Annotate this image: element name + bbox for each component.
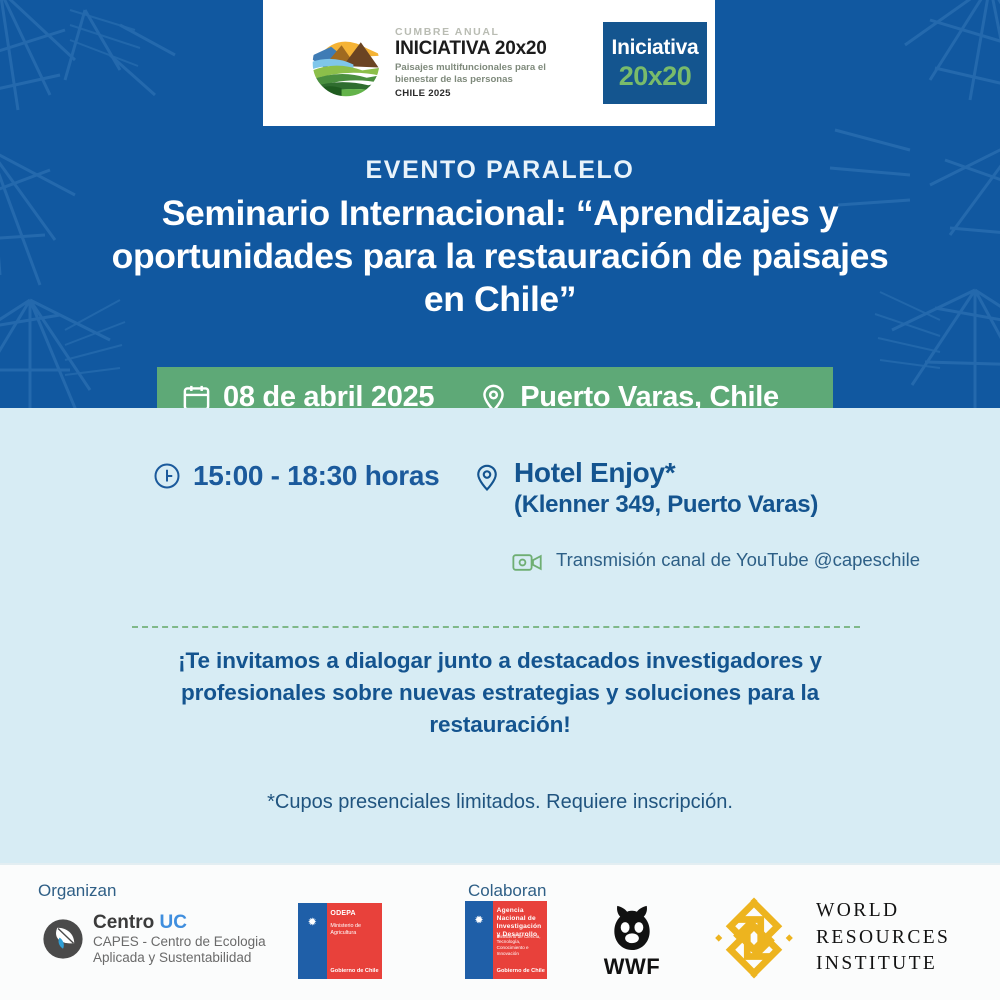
invitation-text: ¡Te invitamos a dialogar junto a destaca… (110, 645, 890, 741)
venue-block: Hotel Enjoy* (Klenner 349, Puerto Varas) (472, 456, 818, 519)
logo-wwf: WWF (596, 900, 668, 980)
capes-line-2: CAPES - Centro de Ecologia (93, 934, 266, 950)
chile-coat-of-arms: ✹ (465, 901, 493, 979)
time-row: 15:00 - 18:30 horas (152, 460, 439, 492)
event-poster: CUMBRE ANUAL INICIATIVA 20x20 Paisajes m… (0, 0, 1000, 1000)
wri-line-2: RESOURCES (816, 925, 950, 952)
anid-government: Gobierno de Chile (497, 968, 545, 974)
clock-icon (152, 461, 182, 491)
odepa-ministry: Ministerio de Agricultura (330, 923, 378, 937)
wwf-wordmark: WWF (604, 954, 660, 980)
cumbre-anual-logo: CUMBRE ANUAL INICIATIVA 20x20 Paisajes m… (309, 26, 559, 100)
odepa-name: ODEPA (330, 910, 355, 918)
cumbre-year: CHILE 2025 (395, 89, 559, 99)
footer-divider (0, 863, 1000, 865)
event-time: 15:00 - 18:30 horas (193, 460, 439, 492)
cumbre-kicker: CUMBRE ANUAL (395, 27, 559, 38)
video-camera-icon (512, 551, 543, 574)
cumbre-subtitle: Paisajes multifuncionales para el bienes… (395, 62, 559, 86)
event-kicker: EVENTO PARALELO (0, 156, 1000, 185)
badge-line-1: Iniciativa (612, 37, 699, 58)
landscape-circle-icon (309, 26, 383, 100)
wri-line-1: WORLD (816, 898, 950, 925)
capes-leaf-icon (42, 918, 84, 960)
odepa-government: Gobierno de Chile (330, 968, 378, 974)
dashed-divider (132, 626, 860, 628)
venue-name: Hotel Enjoy* (514, 456, 818, 490)
centro-uc-name: Centro UC (93, 912, 266, 934)
iniciativa-20x20-badge: Iniciativa 20x20 (603, 22, 707, 104)
registration-note: *Cupos presenciales limitados. Requiere … (0, 791, 1000, 814)
wri-line-3: INSTITUTE (816, 951, 950, 978)
cumbre-name: INICIATIVA 20x20 (395, 39, 559, 60)
stream-block: Transmisión canal de YouTube @capeschile (512, 548, 920, 574)
panda-icon (602, 900, 662, 953)
header-logo-panel: CUMBRE ANUAL INICIATIVA 20x20 Paisajes m… (263, 0, 715, 126)
capes-line-3: Aplicada y Sustentabilidad (93, 950, 266, 966)
badge-line-2: 20x20 (619, 63, 692, 90)
organizers-label: Organizan (38, 881, 116, 901)
wri-knot-icon (712, 896, 796, 980)
stream-info: Transmisión canal de YouTube @capeschile (556, 548, 920, 572)
logo-world-resources-institute: WORLD RESOURCES INSTITUTE (712, 896, 950, 980)
logo-odepa: ✹ ODEPA Ministerio de Agricultura Gobier… (298, 903, 382, 979)
map-pin-icon (472, 460, 502, 494)
logo-centro-uc-capes: Centro UC CAPES - Centro de Ecologia Apl… (42, 912, 266, 966)
chile-coat-of-arms: ✹ (298, 903, 327, 979)
anid-ministry: Ministerio de Ciencia, Tecnología, Conoc… (497, 934, 544, 957)
collaborators-label: Colaboran (468, 881, 546, 901)
logo-anid: ✹ Agencia Nacional de Investigación y De… (465, 901, 547, 979)
page-title: Seminario Internacional: “Aprendizajes y… (100, 192, 900, 321)
event-details: 15:00 - 18:30 horas Hotel Enjoy* (Klenne… (0, 452, 1000, 602)
venue-address: (Klenner 349, Puerto Varas) (514, 490, 818, 519)
